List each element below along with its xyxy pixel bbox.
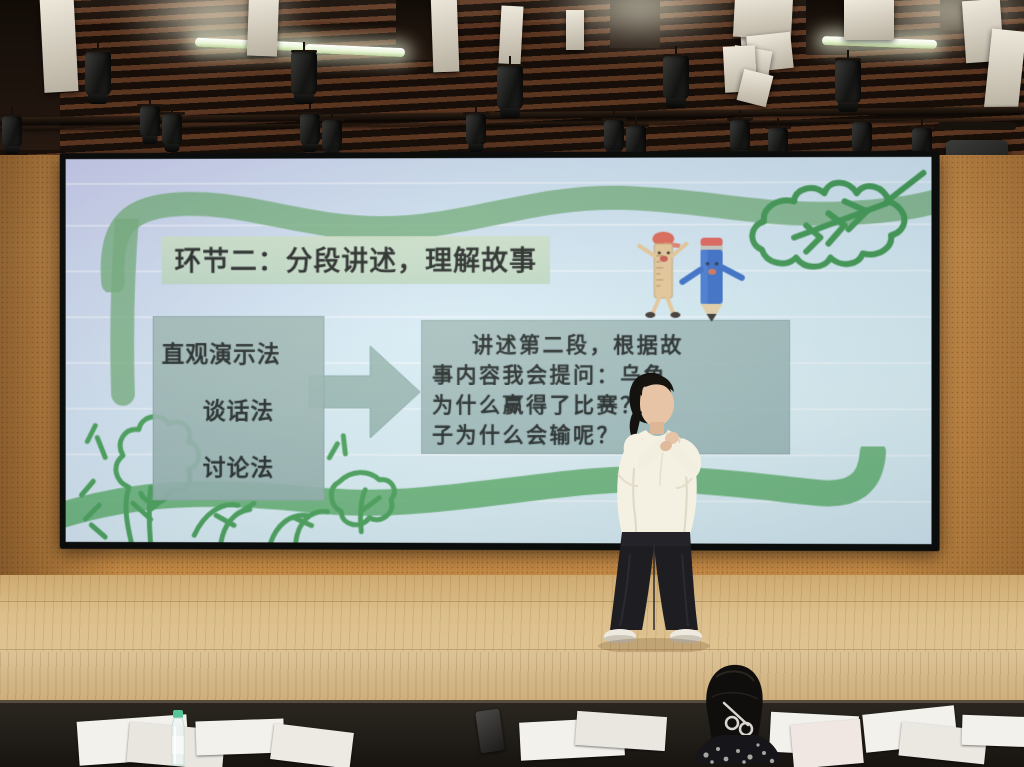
ceiling-reflector-panel [984,28,1024,111]
auditorium-photo: 环节二：分段讲述，理解故事 直观演示法 谈话法 讨论法 讲述第二段，根据故 事内… [0,0,1024,767]
paper-sheet [575,711,667,751]
ceiling [0,0,1024,160]
ceiling-reflector-panel [844,0,894,40]
floor-seam [0,601,1024,602]
audience-member [660,663,810,767]
ceiling-speaker [806,0,848,55]
smartphone [475,709,505,754]
foreground-table [0,700,1024,767]
ceiling-reflector-panel [498,5,523,64]
table-top-highlight [0,700,1024,703]
paper-sheet [961,715,1024,747]
ceiling-reflector-panel [566,10,584,50]
water-bottle [164,710,192,767]
projection-screen-frame: 环节二：分段讲述，理解故事 直观演示法 谈话法 讨论法 讲述第二段，根据故 事内… [60,151,940,551]
floor-seam [0,649,1024,650]
screen-vignette [66,157,932,544]
presenter-teacher [586,368,736,658]
ceiling-camera-mount [938,122,1016,130]
paper-sheet [270,723,354,767]
projection-screen: 环节二：分段讲述，理解故事 直观演示法 谈话法 讨论法 讲述第二段，根据故 事内… [66,157,932,544]
ceiling-reflector-panel [40,0,79,93]
ceiling-reflector-panel [247,0,279,57]
ceiling-reflector-panel [431,0,460,72]
